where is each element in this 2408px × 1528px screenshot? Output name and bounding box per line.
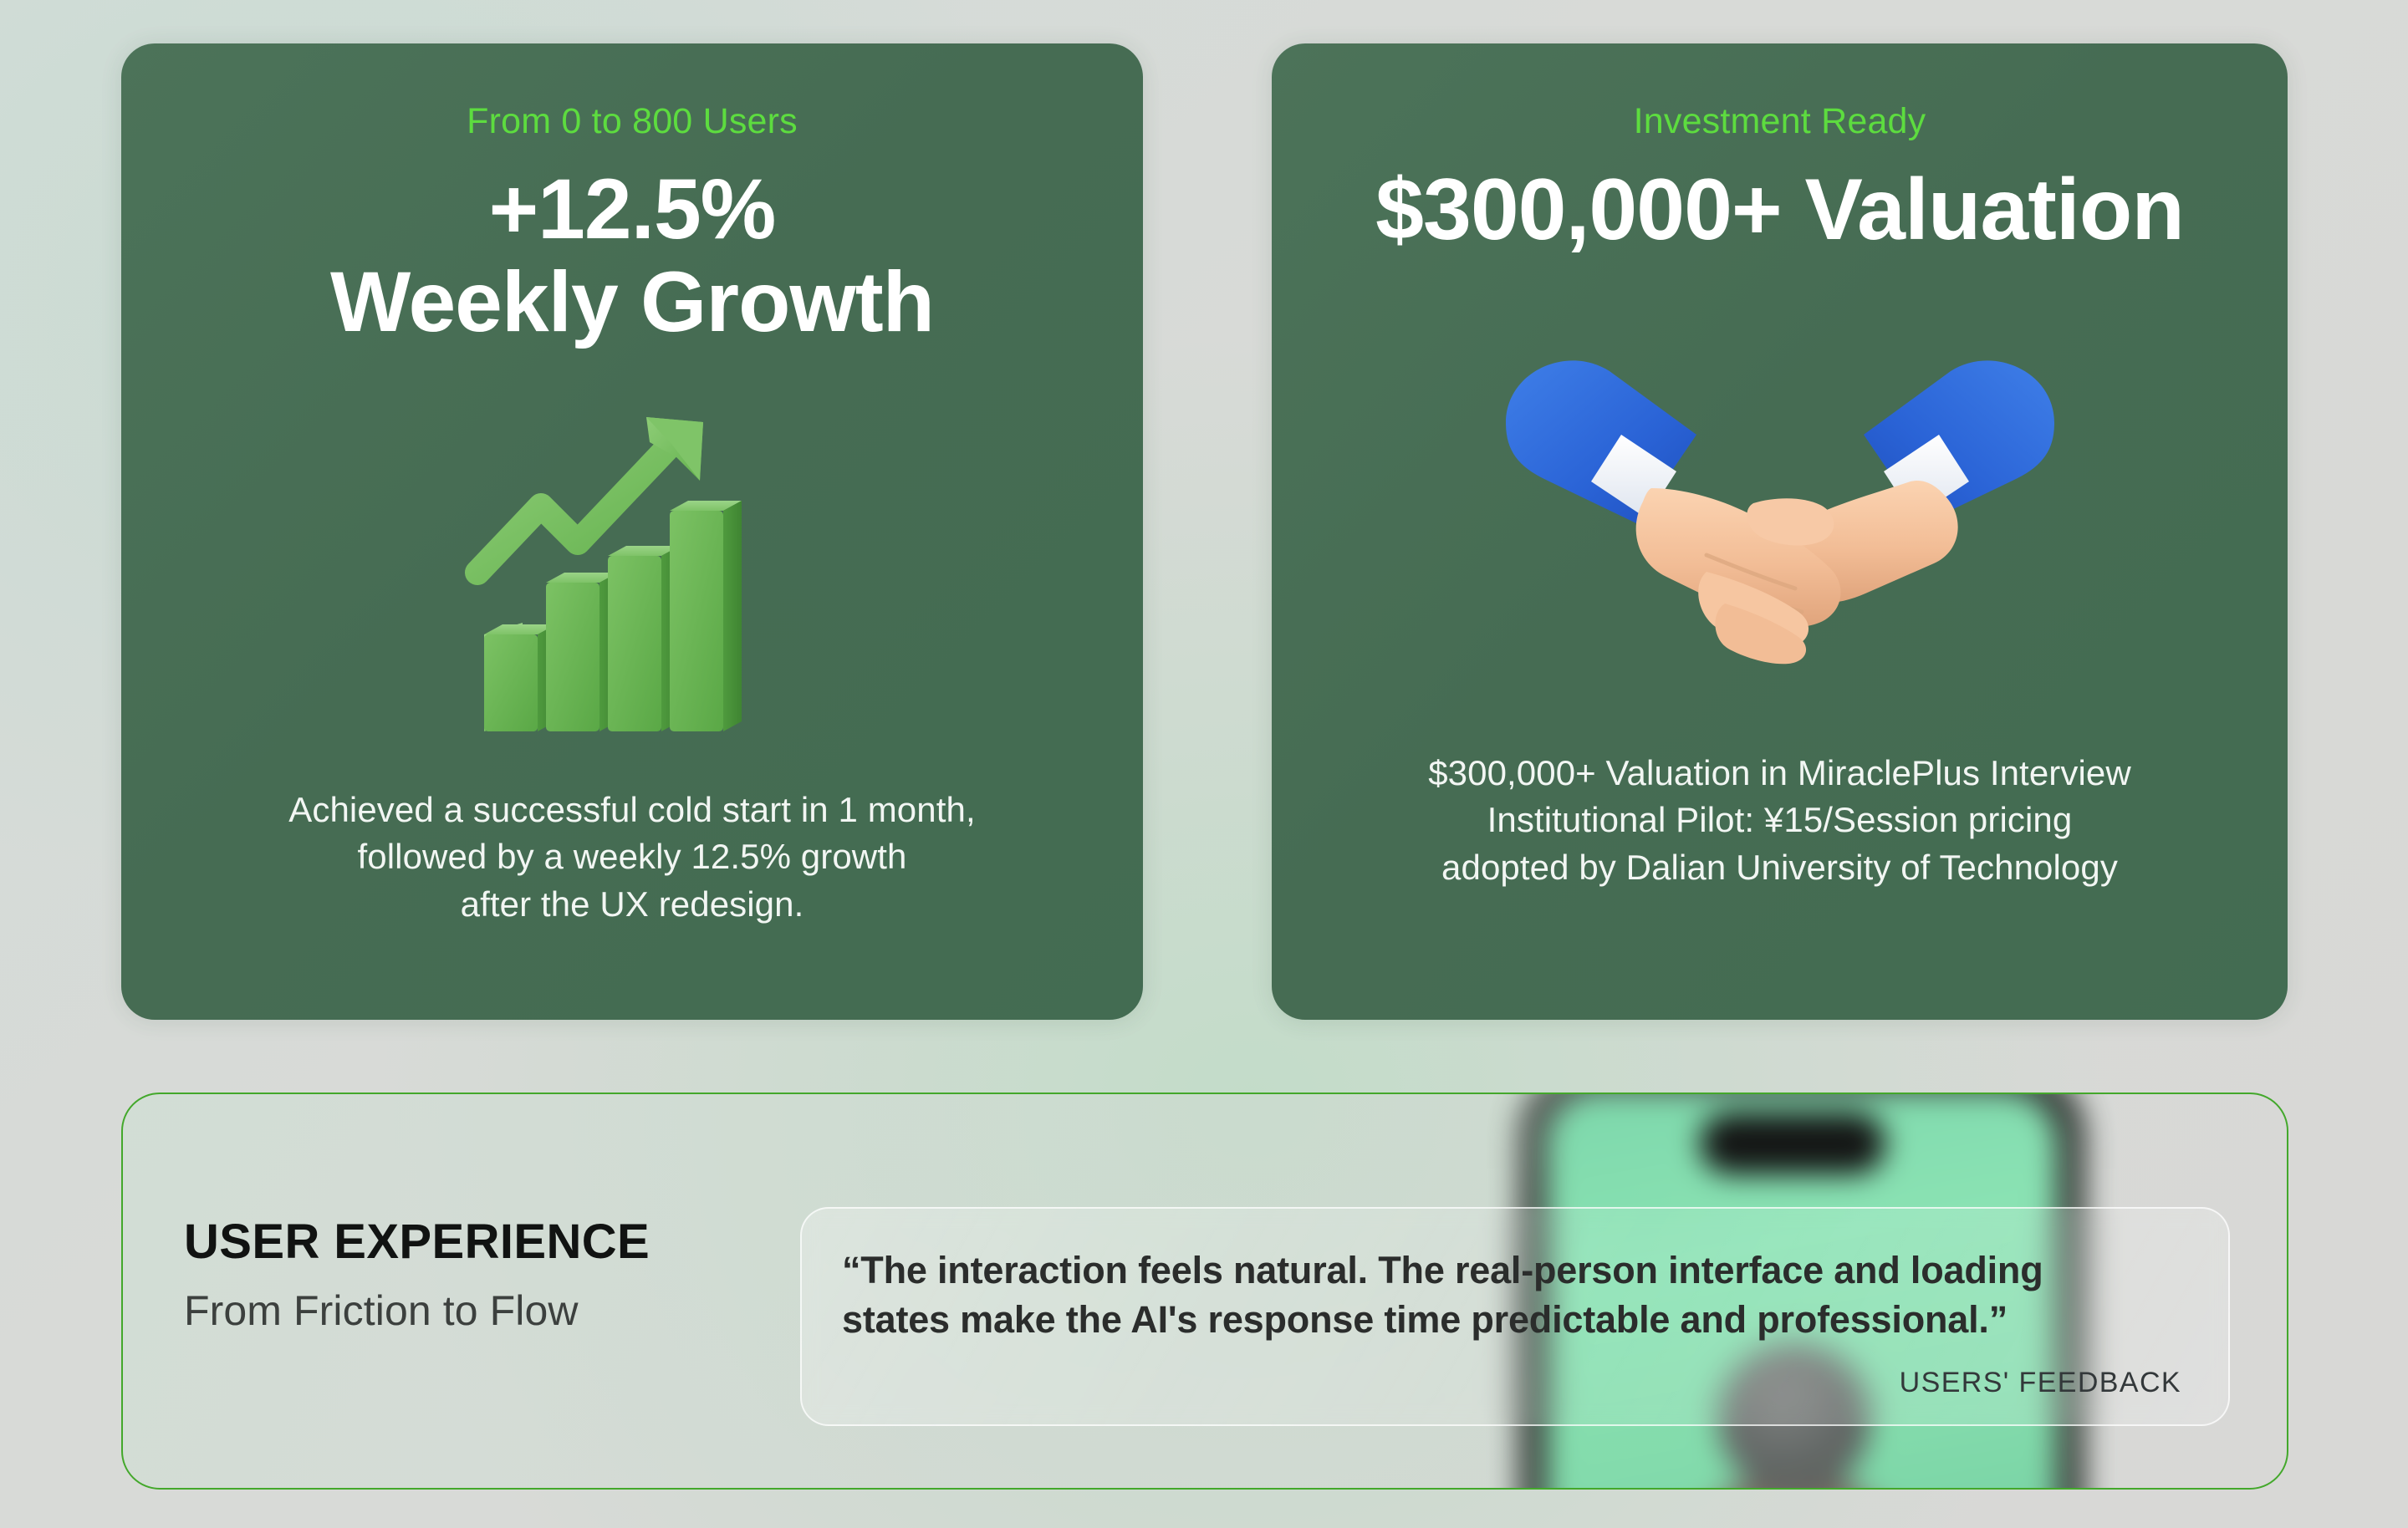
user-experience-panel: USER EXPERIENCE From Friction to Flow “T… xyxy=(121,1093,2288,1490)
card-headline-weekly-growth: +12.5% Weekly Growth xyxy=(330,163,934,349)
ux-panel-title: USER EXPERIENCE xyxy=(184,1218,650,1266)
footnote-line-3: after the UX redesign. xyxy=(288,881,975,928)
headline-line-1: +12.5% xyxy=(330,163,934,256)
slide-canvas: From 0 to 800 Users +12.5% Weekly Growth xyxy=(0,0,2408,1528)
headline-line-2: Weekly Growth xyxy=(330,256,934,349)
ux-heading-group: USER EXPERIENCE From Friction to Flow xyxy=(184,1218,650,1332)
ux-panel-subtitle: From Friction to Flow xyxy=(184,1290,650,1332)
footnote-line-1: $300,000+ Valuation in MiraclePlus Inter… xyxy=(1428,750,2131,797)
metric-card-weekly-growth: From 0 to 800 Users +12.5% Weekly Growth xyxy=(121,43,1143,1020)
user-quote-text: “The interaction feels natural. The real… xyxy=(842,1245,2188,1345)
headline-line-1: $300,000+ Valuation xyxy=(1375,163,2184,257)
phone-notch xyxy=(1700,1113,1885,1174)
card-eyebrow-weekly-growth: From 0 to 800 Users xyxy=(467,102,798,141)
chart-increasing-icon xyxy=(452,392,812,743)
user-quote-attribution: USERS' FEEDBACK xyxy=(1900,1367,2188,1399)
card-footnote-valuation: $300,000+ Valuation in MiraclePlus Inter… xyxy=(1428,750,2131,891)
card-eyebrow-valuation: Investment Ready xyxy=(1634,102,1926,141)
footnote-line-1: Achieved a successful cold start in 1 mo… xyxy=(288,787,975,833)
user-quote-card: “The interaction feels natural. The real… xyxy=(800,1207,2230,1426)
card-footnote-weekly-growth: Achieved a successful cold start in 1 mo… xyxy=(288,787,975,928)
footnote-line-2: Institutional Pilot: ¥15/Session pricing xyxy=(1428,797,2131,843)
footnote-line-2: followed by a weekly 12.5% growth xyxy=(288,833,975,880)
metric-cards-row: From 0 to 800 Users +12.5% Weekly Growth xyxy=(0,0,2408,1062)
metric-card-valuation: Investment Ready $300,000+ Valuation xyxy=(1272,43,2288,1020)
quote-line-2: states make the AI's response time predi… xyxy=(842,1295,2188,1344)
quote-line-1: “The interaction feels natural. The real… xyxy=(842,1245,2188,1295)
card-headline-valuation: $300,000+ Valuation xyxy=(1375,163,2184,257)
handshake-icon xyxy=(1487,324,2073,684)
footnote-line-3: adopted by Dalian University of Technolo… xyxy=(1428,844,2131,891)
card-art-valuation xyxy=(1305,258,2254,751)
card-art-weekly-growth xyxy=(155,349,1110,787)
